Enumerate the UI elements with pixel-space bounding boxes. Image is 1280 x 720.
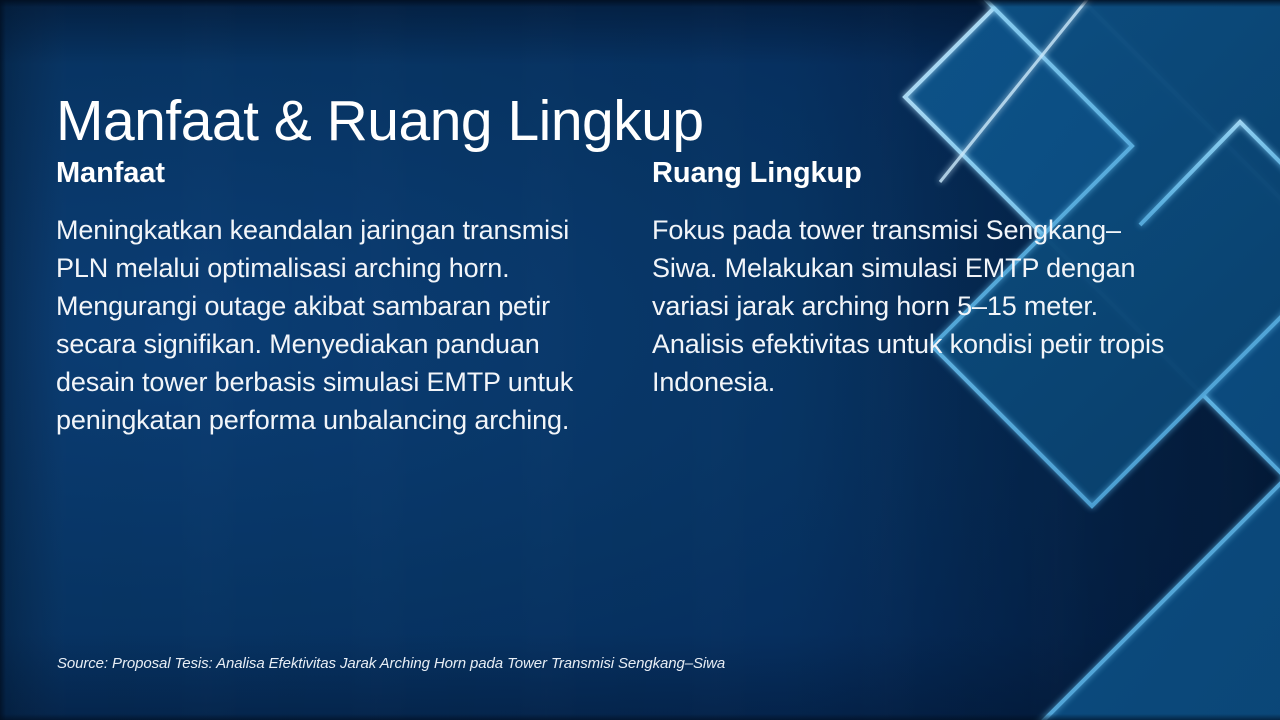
source-citation: Source: Proposal Tesis: Analisa Efektivi… — [57, 655, 725, 672]
page-title: Manfaat & Ruang Lingkup — [56, 90, 704, 154]
column-heading-manfaat: Manfaat — [56, 156, 596, 191]
column-manfaat: Manfaat Meningkatkan keandalan jaringan … — [56, 156, 596, 439]
column-heading-ruang-lingkup: Ruang Lingkup — [652, 156, 1182, 191]
column-body-ruang-lingkup: Fokus pada tower transmisi Sengkang–Siwa… — [652, 211, 1182, 401]
edge-highlight-top — [0, 0, 1280, 7]
presentation-slide: Manfaat & Ruang Lingkup Manfaat Meningka… — [0, 0, 1280, 720]
column-body-manfaat: Meningkatkan keandalan jaringan transmis… — [56, 211, 596, 439]
edge-highlight-bottom — [0, 714, 1280, 720]
edge-highlight-left — [0, 0, 6, 720]
column-ruang-lingkup: Ruang Lingkup Fokus pada tower transmisi… — [652, 156, 1182, 401]
slide-content: Manfaat & Ruang Lingkup Manfaat Meningka… — [0, 0, 1280, 720]
